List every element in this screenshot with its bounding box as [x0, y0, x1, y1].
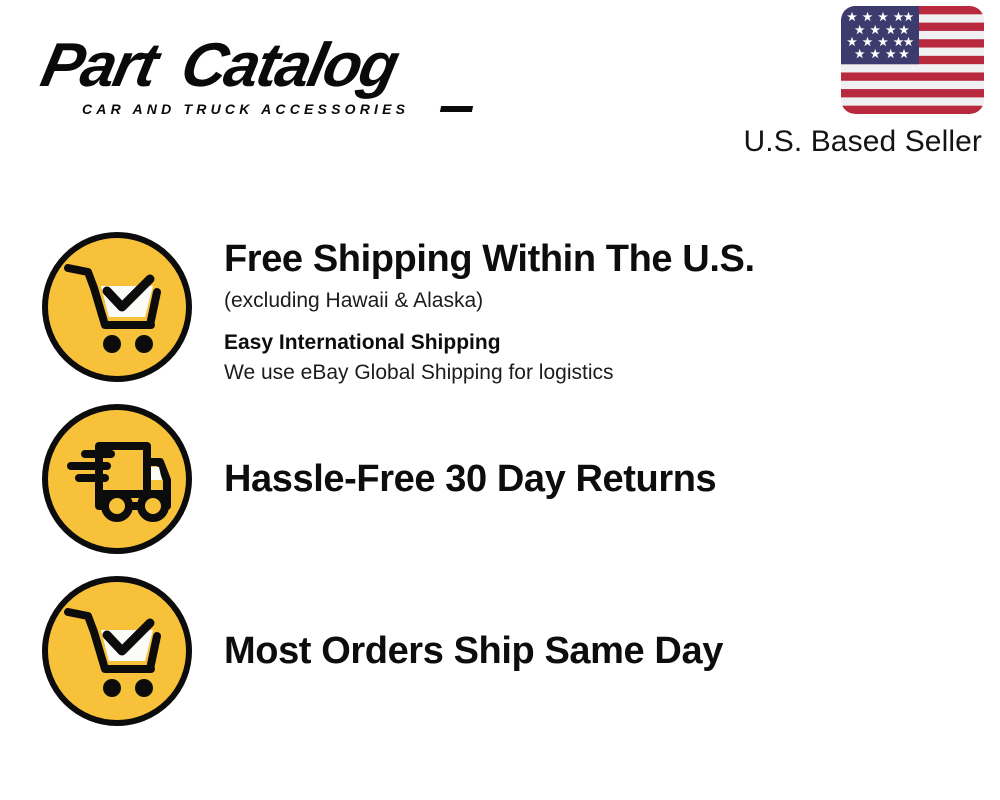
feature-title: Hassle-Free 30 Day Returns	[224, 456, 1000, 502]
svg-text:Catalog: Catalog	[175, 31, 405, 100]
shopping-cart-check-icon	[42, 232, 192, 382]
feature-note: (excluding Hawaii & Alaska)	[224, 286, 1000, 316]
svg-text:Part: Part	[35, 31, 167, 100]
feature-row: Free Shipping Within The U.S. (excluding…	[0, 232, 1000, 387]
us-based-seller-label: U.S. Based Seller	[714, 125, 984, 159]
us-flag-icon	[841, 6, 984, 114]
feature-text-block: Hassle-Free 30 Day Returns	[192, 404, 1000, 502]
feature-row: Most Orders Ship Same Day	[0, 576, 1000, 726]
shopping-cart-check-icon	[42, 576, 192, 726]
svg-text:CAR AND TRUCK ACCESSORIES: CAR AND TRUCK ACCESSORIES	[82, 101, 409, 117]
us-based-seller-badge: U.S. Based Seller	[714, 6, 984, 159]
feature-sub-note: We use eBay Global Shipping for logistic…	[224, 358, 1000, 387]
feature-title: Free Shipping Within The U.S.	[224, 236, 1000, 282]
promo-banner: Part Catalog CAR AND TRUCK ACCESSORIES P…	[0, 0, 1000, 800]
feature-text-block: Most Orders Ship Same Day	[192, 576, 1000, 674]
feature-row: Hassle-Free 30 Day Returns	[0, 404, 1000, 554]
feature-text-block: Free Shipping Within The U.S. (excluding…	[192, 232, 1000, 387]
brand-logo: Part Catalog CAR AND TRUCK ACCESSORIES P…	[24, 22, 494, 118]
feature-title: Most Orders Ship Same Day	[224, 628, 1000, 674]
feature-sub-title: Easy International Shipping	[224, 328, 1000, 357]
delivery-truck-icon	[42, 404, 192, 554]
